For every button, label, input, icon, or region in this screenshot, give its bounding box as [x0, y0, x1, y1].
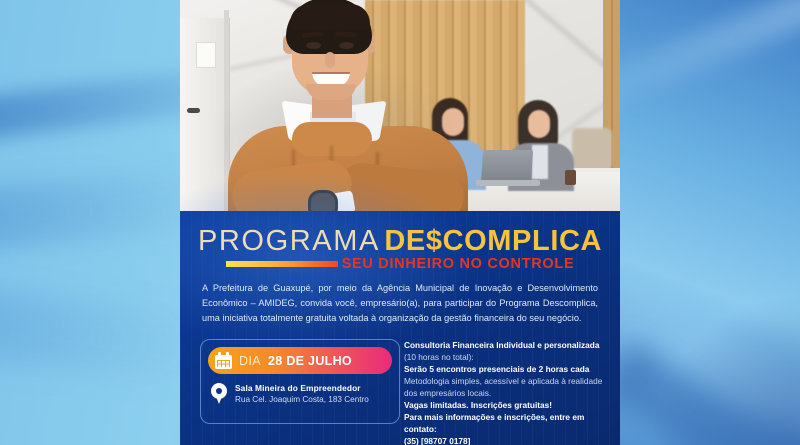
detail-line: dos empresários locais.: [404, 387, 608, 399]
title-word-programa: PROGRAMA: [198, 225, 380, 257]
photo-coffee-cup-2: [565, 170, 576, 185]
photo-man-eye-right: [339, 42, 354, 49]
detail-line: Metodologia simples, acessível e aplicad…: [404, 375, 608, 387]
details-list: Consultoria Financeira Individual e pers…: [404, 339, 608, 445]
location-pin-icon: [211, 383, 227, 404]
date-badge: DIA 28 DE JULHO: [208, 347, 392, 374]
venue-text-group: Sala Mineira do Empreendedor Rua Cel. Jo…: [235, 383, 369, 404]
contact-phone: (35) [98707 0178]: [404, 435, 608, 445]
background-corner-shadow: [650, 295, 800, 445]
subtitle-text: SEU DINHEIRO NO CONTROLE: [342, 256, 575, 272]
subtitle-row: SEU DINHEIRO NO CONTROLE: [180, 256, 620, 272]
subtitle-gradient-bar: [226, 261, 338, 267]
date-prefix: DIA: [239, 354, 261, 368]
photo-man-fringe: [290, 4, 370, 30]
detail-line: (10 horas no total):: [404, 351, 608, 363]
photo-laptop-screen: [481, 150, 533, 183]
photo-woman2-face: [528, 110, 550, 138]
photo-chair: [572, 128, 612, 170]
calendar-icon: [215, 352, 232, 369]
detail-line: Vagas limitadas. Inscrições gratuitas!: [404, 399, 608, 411]
detail-line: Para mais informações e inscrições, entr…: [404, 411, 608, 435]
program-title: PROGRAMA DE$COMPLICA: [180, 225, 620, 258]
detail-line: Consultoria Financeira Individual e pers…: [404, 339, 608, 351]
description-paragraph: A Prefeitura de Guaxupé, por meio da Agê…: [202, 281, 598, 326]
event-info-card: DIA 28 DE JULHO Sala Mineira do Empreend…: [200, 339, 400, 424]
venue-row: Sala Mineira do Empreendedor Rua Cel. Jo…: [208, 383, 392, 404]
photo-man-nose: [325, 52, 335, 68]
photo-man-eye-left: [306, 42, 321, 49]
date-value: 28 DE JULHO: [268, 354, 352, 368]
promotional-flyer: PROGRAMA DE$COMPLICA SEU DINHEIRO NO CON…: [180, 0, 620, 445]
photo-laptop-base: [476, 180, 540, 186]
detail-line: Serão 5 encontros presenciais de 2 horas…: [404, 363, 608, 375]
venue-address: Rua Cel. Joaquim Costa, 183 Centro: [235, 395, 369, 404]
venue-name: Sala Mineira do Empreendedor: [235, 383, 369, 393]
photo-woman2-shirt: [532, 145, 548, 179]
photo-door-handle: [187, 108, 200, 113]
title-word-descomplica: DE$COMPLICA: [384, 225, 602, 257]
content-panel: PROGRAMA DE$COMPLICA SEU DINHEIRO NO CON…: [180, 211, 620, 445]
flyer-screenshot: PROGRAMA DE$COMPLICA SEU DINHEIRO NO CON…: [0, 0, 800, 445]
